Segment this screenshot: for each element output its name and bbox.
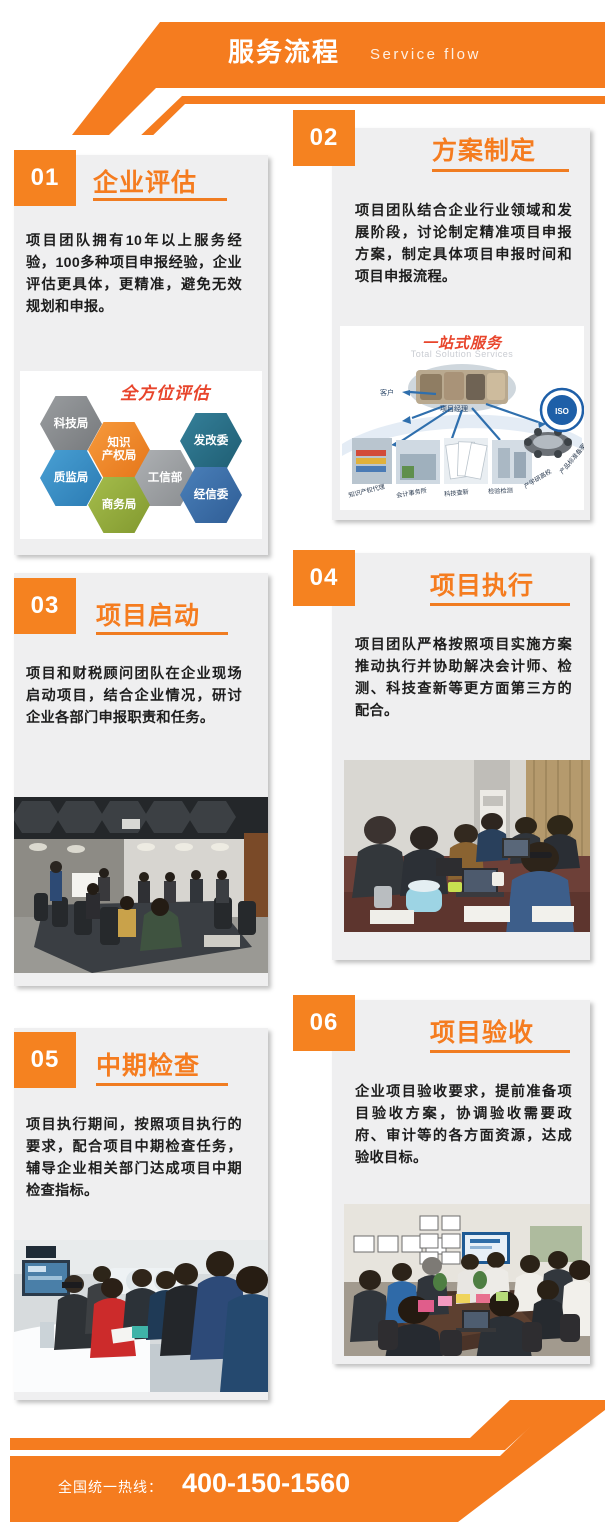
step-badge-04: 04 bbox=[293, 550, 355, 606]
step-body-03: 项目和财税顾问团队在企业现场启动项目，结合企业情况，研讨企业各部门申报职责和任务… bbox=[26, 663, 242, 729]
step-number-01: 01 bbox=[31, 164, 60, 192]
step-badge-03: 03 bbox=[14, 578, 76, 634]
step-title-rule-01 bbox=[93, 198, 227, 201]
step-number-02: 02 bbox=[310, 124, 339, 152]
step-body-02: 项目团队结合企业行业领域和发展阶段，讨论制定精准项目申报方案，制定具体项目申报时… bbox=[355, 200, 572, 288]
svg-text:ISO: ISO bbox=[555, 407, 569, 416]
one-stop-service-diagram: ISO 一站式服务 Total Solution Services 客户 项目经… bbox=[340, 326, 584, 510]
one-stop-client-label: 客户 bbox=[380, 388, 394, 398]
step-badge-02: 02 bbox=[293, 110, 355, 166]
step-title-04: 项目执行 bbox=[430, 566, 534, 602]
step-title-rule-04 bbox=[430, 603, 570, 606]
step-body-05: 项目执行期间，按照项目执行的要求，配合项目中期检查任务，辅导企业相关部门达成项目… bbox=[26, 1114, 242, 1202]
service-flow-infographic: 服务流程 Service flow 01 企业评估 项目团队拥有10年以上服务经… bbox=[0, 0, 605, 1538]
conference-room-photo bbox=[14, 797, 268, 973]
step-body-04: 项目团队严格按照项目实施方案推动执行并协助解决会计师、检测、科技查新等更方面第三… bbox=[355, 634, 572, 722]
step-body-01: 项目团队拥有10年以上服务经验，100多种项目申报经验，企业评估更具体，更精准，… bbox=[26, 230, 242, 318]
step-number-06: 06 bbox=[310, 1009, 339, 1037]
hex-diagram-title: 全方位评估 bbox=[120, 379, 210, 404]
hexagon-assessment-diagram: 全方位评估 科技局 知识 产权局 发改委 质监局 工信部 经信委 商务局 bbox=[20, 371, 262, 539]
step-title-06: 项目验收 bbox=[430, 1013, 534, 1049]
step-badge-05: 05 bbox=[14, 1032, 76, 1088]
step-title-rule-03 bbox=[96, 632, 228, 635]
step-badge-06: 06 bbox=[293, 995, 355, 1051]
step-badge-01: 01 bbox=[14, 150, 76, 206]
header-subtitle: Service flow bbox=[370, 45, 481, 65]
step-title-05: 中期检查 bbox=[96, 1046, 200, 1082]
step-title-rule-02 bbox=[432, 169, 569, 172]
header-banner: 服务流程 Service flow bbox=[0, 0, 605, 120]
hotline-label: 全国统一热线： bbox=[58, 1477, 163, 1497]
step-title-01: 企业评估 bbox=[93, 163, 197, 199]
step-title-rule-05 bbox=[96, 1083, 228, 1086]
step-number-04: 04 bbox=[310, 564, 339, 592]
step-body-06: 企业项目验收要求，提前准备项目验收方案，协调验收需要政府、审计等的各方面资源，达… bbox=[355, 1081, 572, 1169]
step-title-rule-06 bbox=[430, 1050, 570, 1053]
showroom-visit-photo bbox=[14, 1240, 268, 1392]
meeting-laptops-photo bbox=[344, 760, 590, 932]
boardroom-acceptance-photo bbox=[344, 1204, 590, 1356]
one-stop-bottom-label-3: 检验检测 bbox=[488, 486, 513, 496]
one-stop-center-label: 项目经理 bbox=[440, 404, 468, 414]
hotline-number: 400-150-1560 bbox=[182, 1468, 350, 1499]
step-title-02: 方案制定 bbox=[432, 131, 536, 167]
step-number-03: 03 bbox=[31, 592, 60, 620]
one-stop-subtitle: Total Solution Services bbox=[340, 349, 584, 359]
step-number-05: 05 bbox=[31, 1046, 60, 1074]
header-title: 服务流程 bbox=[228, 36, 340, 68]
step-title-03: 项目启动 bbox=[96, 596, 200, 632]
hex-node-fagai: 发改委 bbox=[180, 413, 242, 469]
